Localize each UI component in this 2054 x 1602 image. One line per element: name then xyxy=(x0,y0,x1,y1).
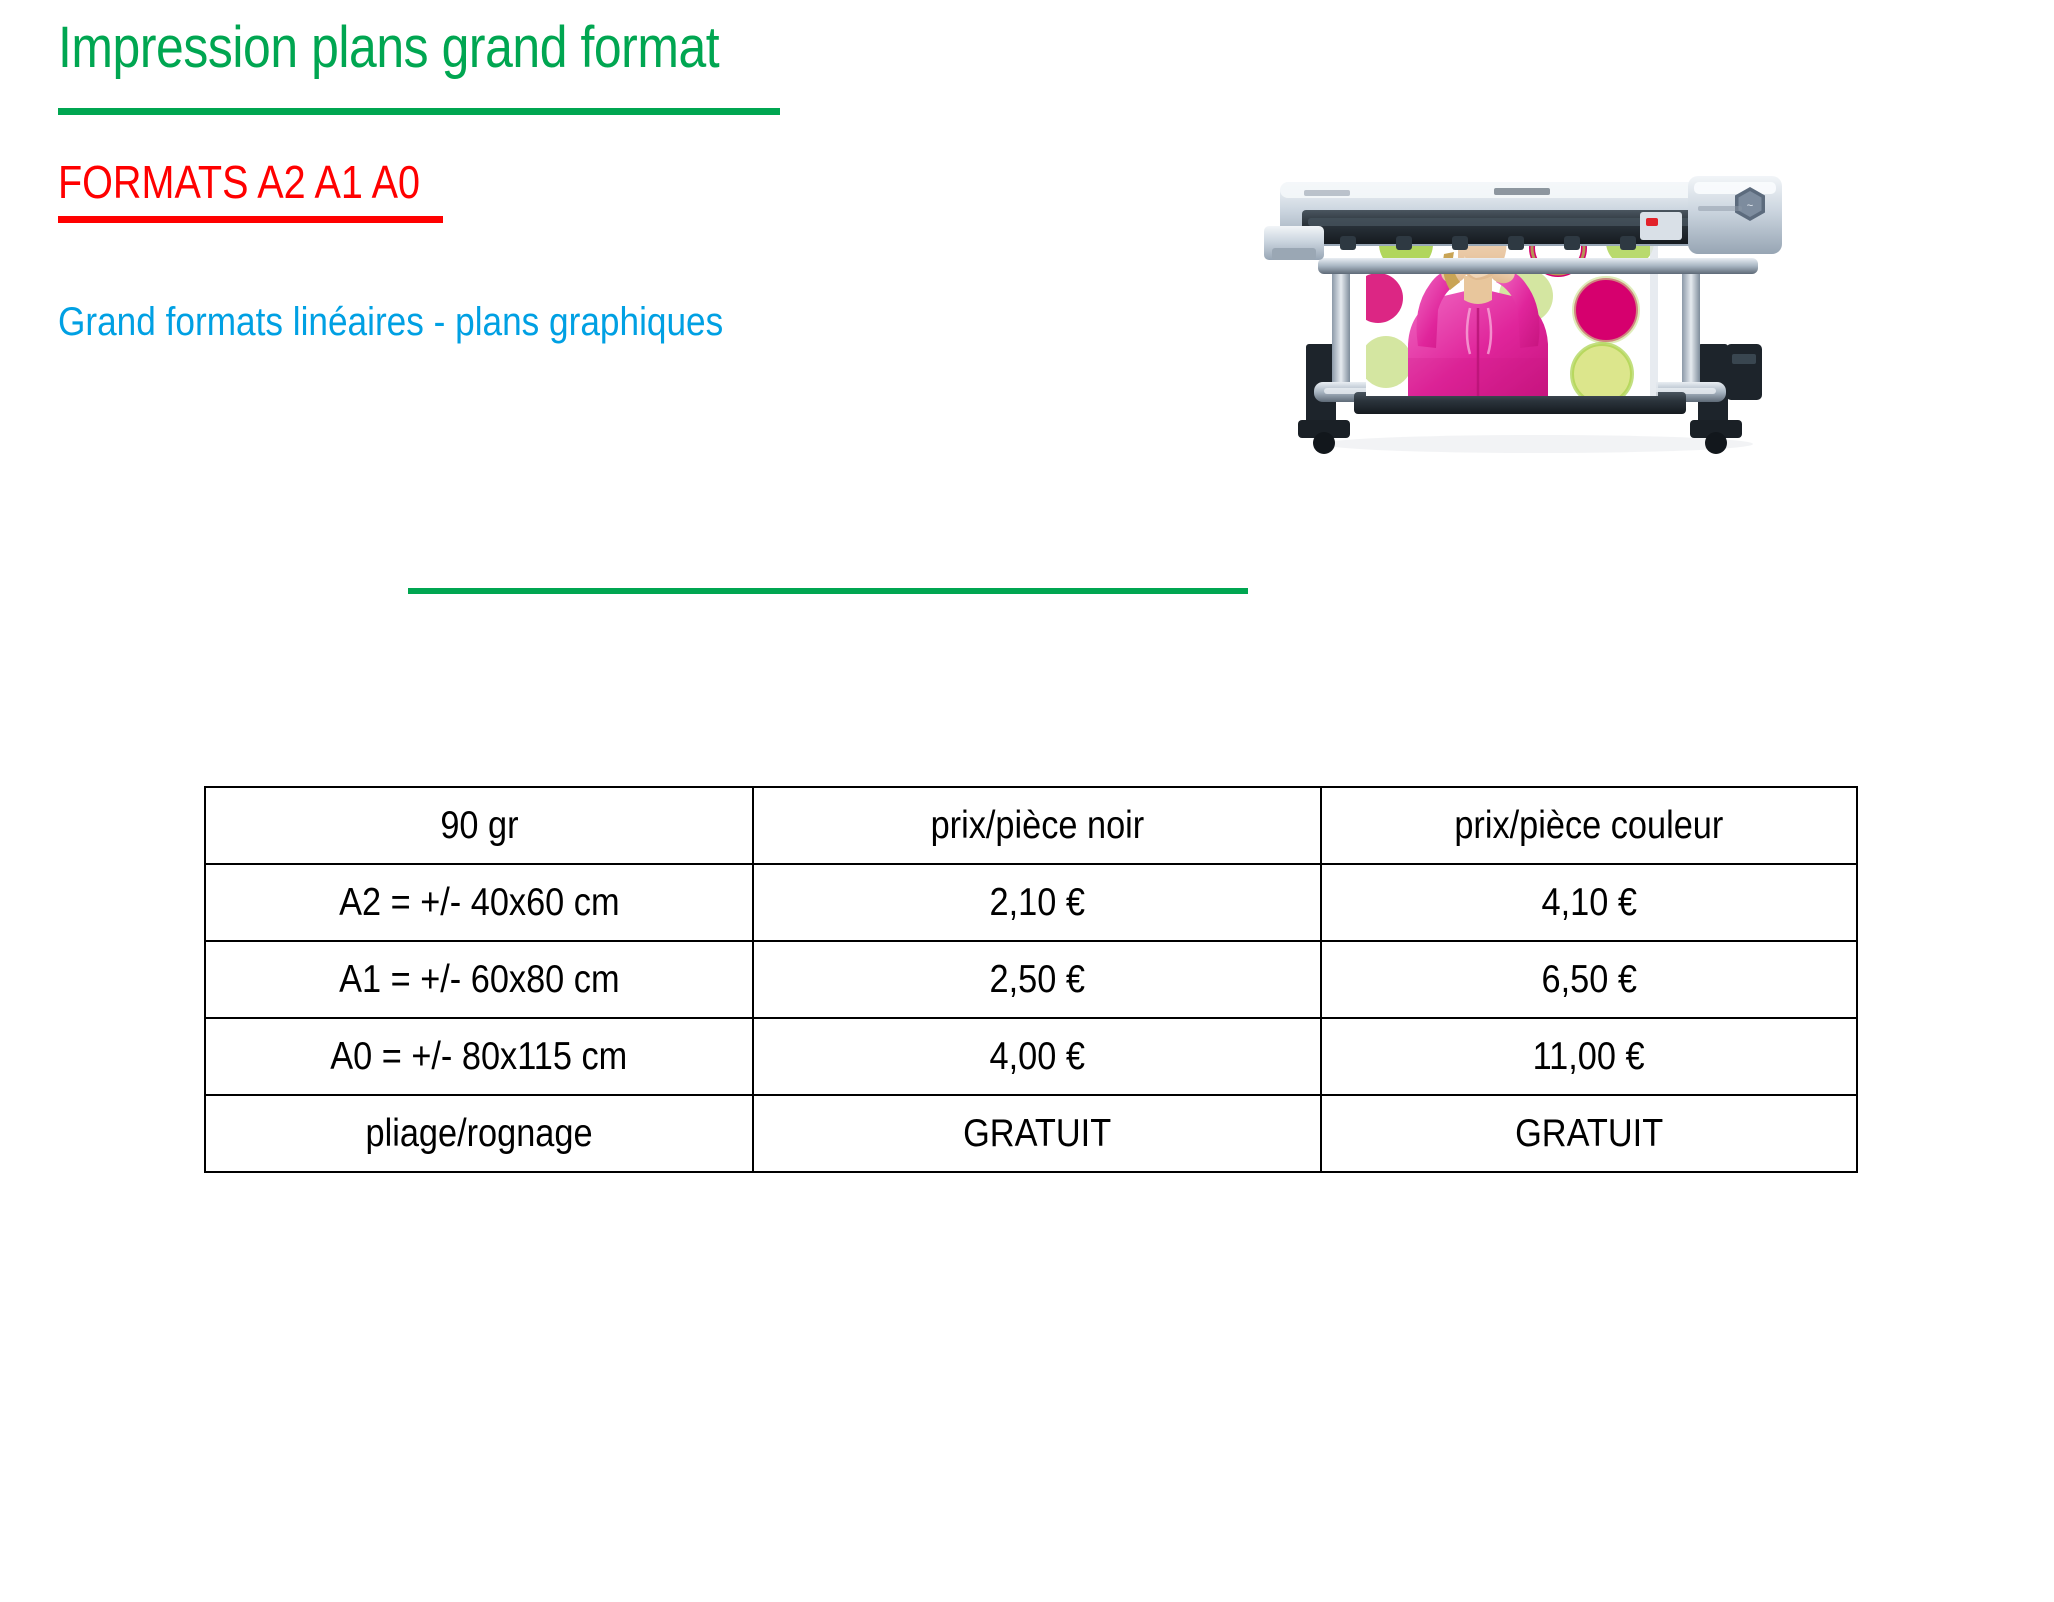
table-cell-price-black: 2,10 € xyxy=(753,864,1321,941)
table-cell-value: 4,10 € xyxy=(1541,881,1636,925)
table-cell-price-color: 6,50 € xyxy=(1321,941,1857,1018)
svg-text:~: ~ xyxy=(1747,200,1753,212)
table-header-cell-format: 90 gr xyxy=(205,787,753,864)
table-row: A1 = +/- 60x80 cm 2,50 € 6,50 € xyxy=(205,941,1857,1018)
title-underline-rule xyxy=(58,108,780,115)
table-row: pliage/rognage GRATUIT GRATUIT xyxy=(205,1095,1857,1172)
price-table: 90 gr prix/pièce noir prix/pièce couleur… xyxy=(204,786,1858,1173)
table-cell-format: A2 = +/- 40x60 cm xyxy=(205,864,753,941)
table-cell-format: A0 = +/- 80x115 cm xyxy=(205,1018,753,1095)
price-table-container: 90 gr prix/pièce noir prix/pièce couleur… xyxy=(204,786,1856,1173)
subtitle-underline-rule xyxy=(58,216,443,223)
table-cell-price-black: 4,00 € xyxy=(753,1018,1321,1095)
table-cell-value: 2,10 € xyxy=(989,881,1084,925)
table-cell-value: GRATUIT xyxy=(1515,1112,1663,1156)
table-cell-value: 6,50 € xyxy=(1541,958,1636,1002)
page-description: Grand formats linéaires - plans graphiqu… xyxy=(58,300,723,344)
table-cell-format: pliage/rognage xyxy=(205,1095,753,1172)
table-header-price-black-label: prix/pièce noir xyxy=(930,804,1144,848)
wide-format-printer-photo: ~ xyxy=(1258,148,1818,460)
table-cell-price-color: GRATUIT xyxy=(1321,1095,1857,1172)
table-header-cell-price-color: prix/pièce couleur xyxy=(1321,787,1857,864)
table-cell-price-color: 11,00 € xyxy=(1321,1018,1857,1095)
page-subtitle-block: FORMATS A2 A1 A0 xyxy=(58,158,479,206)
table-cell-price-black: GRATUIT xyxy=(753,1095,1321,1172)
table-row: A0 = +/- 80x115 cm 4,00 € 11,00 € xyxy=(205,1018,1857,1095)
page-title-block: Impression plans grand format xyxy=(58,18,1158,79)
table-cell-price-color: 4,10 € xyxy=(1321,864,1857,941)
table-header-cell-price-black: prix/pièce noir xyxy=(753,787,1321,864)
table-cell-value: 4,00 € xyxy=(989,1035,1084,1079)
table-row: A2 = +/- 40x60 cm 2,10 € 4,10 € xyxy=(205,864,1857,941)
table-cell-price-black: 2,50 € xyxy=(753,941,1321,1018)
table-header-price-color-label: prix/pièce couleur xyxy=(1454,804,1723,848)
table-cell-value: GRATUIT xyxy=(963,1112,1111,1156)
table-cell-value: A2 = +/- 40x60 cm xyxy=(339,881,619,925)
table-header-row: 90 gr prix/pièce noir prix/pièce couleur xyxy=(205,787,1857,864)
table-header-format-label: 90 gr xyxy=(440,804,518,848)
table-cell-value: A0 = +/- 80x115 cm xyxy=(331,1035,628,1079)
table-cell-value: 11,00 € xyxy=(1533,1035,1645,1079)
table-cell-value: A1 = +/- 60x80 cm xyxy=(339,958,619,1002)
table-cell-value: pliage/rognage xyxy=(365,1112,592,1156)
table-cell-format: A1 = +/- 60x80 cm xyxy=(205,941,753,1018)
printer-illustration: ~ xyxy=(1258,148,1818,460)
section-divider-rule xyxy=(408,588,1248,594)
page-subtitle: FORMATS A2 A1 A0 xyxy=(58,158,420,206)
table-cell-value: 2,50 € xyxy=(989,958,1084,1002)
page-title: Impression plans grand format xyxy=(58,18,1004,79)
